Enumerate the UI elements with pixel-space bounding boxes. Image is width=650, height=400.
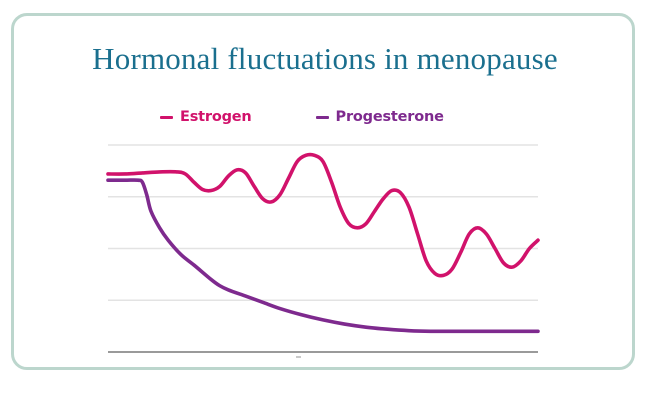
legend-dash-icon-progesterone [316,116,329,119]
legend-label-progesterone: Progesterone [336,109,444,125]
legend-dash-icon-estrogen [160,116,173,119]
legend-item-estrogen[interactable]: Estrogen [160,109,252,125]
legend-label-estrogen: Estrogen [180,109,252,125]
chart-card: Hormonal fluctuations in menopause Estro… [0,0,650,400]
legend-item-progesterone[interactable]: Progesterone [316,109,444,125]
page-title: Hormonal fluctuations in menopause [0,42,650,76]
chart-legend: Estrogen Progesterone [160,106,490,128]
x-axis-tick-icon [296,356,301,358]
